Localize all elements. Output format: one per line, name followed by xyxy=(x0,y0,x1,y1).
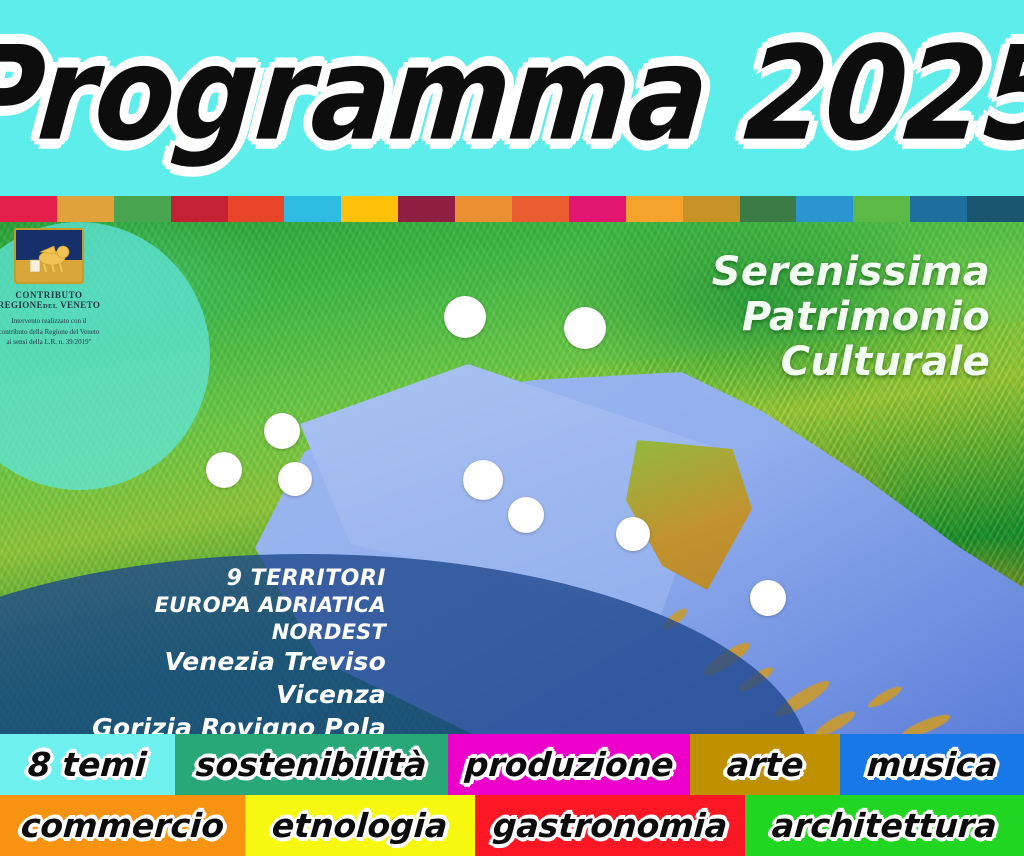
veneto-badge-line-1: CONTRIBUTO xyxy=(0,290,144,300)
map-headline-line-1: Serenissima xyxy=(712,250,990,295)
theme-tag-8-temi[interactable]: 8 temi xyxy=(0,734,175,795)
theme-tag-label: musica xyxy=(865,745,998,784)
color-swatch-3 xyxy=(171,196,228,222)
theme-tag-label: gastronomia xyxy=(491,806,728,845)
poster-header: Programma 2025 xyxy=(0,0,1024,196)
poster-root: Programma 2025 Serenissima Patrimonio Cu… xyxy=(0,0,1024,856)
theme-tag-label: produzione xyxy=(463,745,674,784)
theme-tag-label: 8 temi xyxy=(27,745,148,784)
theme-tags: 8 temisostenibilitàproduzioneartemusica … xyxy=(0,734,1024,856)
veneto-badge-line-2-end: VENETO xyxy=(60,300,100,310)
theme-tag-arte[interactable]: arte xyxy=(690,734,840,795)
page-title: Programma 2025 xyxy=(0,30,1024,160)
color-swatch-11 xyxy=(626,196,683,222)
veneto-fine-line-3: ai sensi della L.R. n. 39/2019" xyxy=(0,337,138,348)
color-swatch-2 xyxy=(114,196,171,222)
rainbow-divider xyxy=(0,196,1024,222)
theme-tag-label: commercio xyxy=(20,806,226,845)
territories-subtitle: EUROPA ADRIATICA NORDEST xyxy=(46,592,386,645)
map-marker-treviso[interactable] xyxy=(264,413,300,449)
color-swatch-4 xyxy=(228,196,285,222)
map-marker-pola[interactable] xyxy=(508,497,544,533)
theme-tag-label: arte xyxy=(725,745,804,784)
map-panel: Serenissima Patrimonio Culturale xyxy=(0,222,1024,734)
veneto-badge-line-2-main: REGIONE xyxy=(0,300,43,310)
color-swatch-1 xyxy=(57,196,114,222)
color-swatch-10 xyxy=(569,196,626,222)
theme-tag-sostenibilit-[interactable]: sostenibilità xyxy=(175,734,448,795)
color-swatch-9 xyxy=(512,196,569,222)
theme-tag-label: sostenibilità xyxy=(195,745,428,784)
veneto-badge-fine-print: Intervento realizzato con il contributo … xyxy=(0,316,144,348)
color-swatch-17 xyxy=(967,196,1024,222)
color-swatch-6 xyxy=(341,196,398,222)
theme-tag-architettura[interactable]: architettura xyxy=(745,795,1024,856)
theme-tag-produzione[interactable]: produzione xyxy=(448,734,690,795)
theme-tag-etnologia[interactable]: etnologia xyxy=(245,795,475,856)
winged-lion-crest-icon xyxy=(14,228,84,284)
territories-count-title: 9 TERRITORI xyxy=(46,566,386,592)
theme-tag-label: architettura xyxy=(771,806,998,845)
map-marker-rovigno[interactable] xyxy=(463,460,503,500)
theme-tag-gastronomia[interactable]: gastronomia xyxy=(475,795,745,856)
color-swatch-7 xyxy=(398,196,455,222)
map-marker-fiume[interactable] xyxy=(564,307,606,349)
veneto-fine-line-2: contributo della Regione del Veneto xyxy=(0,327,138,338)
veneto-fine-line-1: Intervento realizzato con il xyxy=(0,316,138,327)
veneto-badge: CONTRIBUTO REGIONEDEL VENETO Intervento … xyxy=(0,228,144,378)
territories-city-row-1: Venezia Treviso Vicenza xyxy=(46,645,386,711)
veneto-badge-line-2: REGIONEDEL VENETO xyxy=(0,300,144,310)
map-marker-venezia[interactable] xyxy=(206,452,242,488)
map-headline-line-2: Patrimonio xyxy=(712,295,990,340)
territories-city-row-2: Gorizia Rovigno Pola xyxy=(46,711,386,734)
map-headline: Serenissima Patrimonio Culturale xyxy=(712,250,990,384)
theme-tag-musica[interactable]: musica xyxy=(840,734,1024,795)
theme-tag-label: etnologia xyxy=(271,806,449,845)
color-swatch-8 xyxy=(455,196,512,222)
color-swatch-16 xyxy=(910,196,967,222)
veneto-badge-line-2-small: DEL xyxy=(43,303,58,310)
color-swatch-12 xyxy=(683,196,740,222)
color-swatch-15 xyxy=(853,196,910,222)
color-swatch-13 xyxy=(740,196,797,222)
color-swatch-14 xyxy=(796,196,853,222)
theme-tag-row-1: 8 temisostenibilitàproduzioneartemusica xyxy=(0,734,1024,795)
veneto-crest-svg xyxy=(16,230,82,282)
theme-tag-row-2: commercioetnologiagastronomiaarchitettur… xyxy=(0,795,1024,856)
theme-tag-commercio[interactable]: commercio xyxy=(0,795,245,856)
color-swatch-5 xyxy=(284,196,341,222)
color-swatch-0 xyxy=(0,196,57,222)
territories-panel: 9 TERRITORI EUROPA ADRIATICA NORDEST Ven… xyxy=(46,566,386,734)
map-marker-lussino[interactable] xyxy=(616,517,650,551)
map-headline-line-3: Culturale xyxy=(712,340,990,385)
map-marker-gorizia[interactable] xyxy=(444,296,486,338)
map-marker-vicenza[interactable] xyxy=(278,462,312,496)
map-marker-zara[interactable] xyxy=(750,580,786,616)
